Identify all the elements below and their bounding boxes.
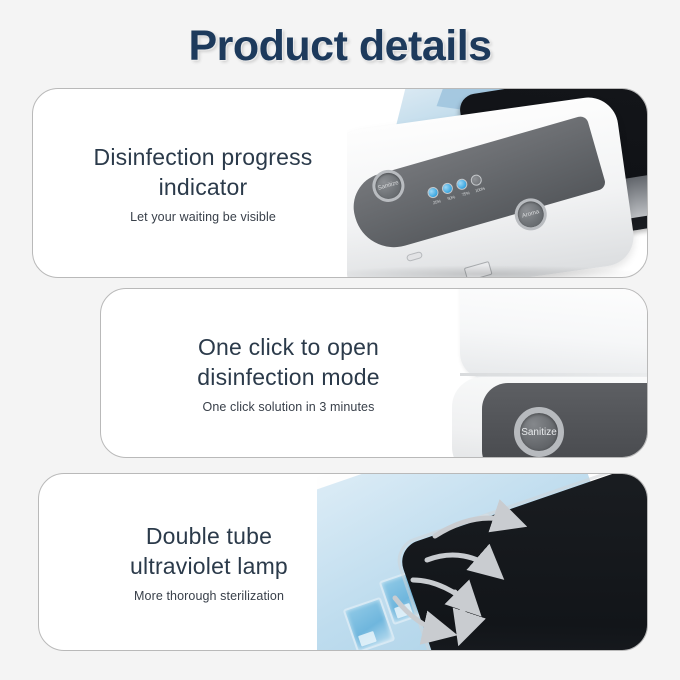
progress-led-25 — [426, 186, 440, 200]
product-details-page: Product details Disinfection progress in… — [0, 0, 680, 680]
feature-card-double-tube-ultraviolet-lamp[interactable]: Double tube ultraviolet lamp More thorou… — [38, 473, 648, 651]
card-subtitle: Let your waiting be visible — [130, 210, 276, 224]
card-heading: Disinfection progress indicator — [94, 142, 313, 203]
card-heading-line-2: disinfection mode — [197, 362, 379, 392]
progress-led-75 — [455, 177, 469, 191]
card-heading-line-1: One click to open — [197, 332, 379, 362]
progress-led-50 — [441, 182, 455, 196]
progress-led-100 — [469, 173, 483, 187]
uv-arrow-2 — [427, 555, 493, 570]
feature-card-disinfection-progress-indicator[interactable]: Disinfection progress indicator Let your… — [32, 88, 648, 278]
card-subtitle: One click solution in 3 minutes — [203, 400, 375, 414]
feature-card-one-click-disinfection-mode[interactable]: One click to open disinfection mode One … — [100, 288, 648, 458]
lid-seam-line — [460, 373, 647, 376]
uv-arrow-1 — [435, 518, 513, 536]
card-heading: One click to open disinfection mode — [197, 332, 379, 393]
sanitize-button[interactable]: Sanitize — [514, 407, 564, 457]
card-heading-line-2: ultraviolet lamp — [130, 551, 288, 581]
card-text-block: One click to open disinfection mode One … — [101, 289, 431, 457]
card-text-block: Disinfection progress indicator Let your… — [33, 89, 393, 277]
card-heading: Double tube ultraviolet lamp — [130, 521, 288, 582]
card-subtitle: More thorough sterilization — [134, 589, 284, 603]
card-heading-line-2: indicator — [94, 172, 313, 202]
sanitizer-box-lid — [460, 289, 647, 379]
card-heading-line-1: Double tube — [130, 521, 288, 551]
card-heading-line-1: Disinfection progress — [94, 142, 313, 172]
control-panel — [482, 383, 647, 457]
card-text-block: Double tube ultraviolet lamp More thorou… — [39, 474, 389, 650]
uv-arrow-4 — [395, 598, 443, 632]
page-title: Product details — [0, 22, 680, 71]
charging-port — [406, 251, 423, 262]
